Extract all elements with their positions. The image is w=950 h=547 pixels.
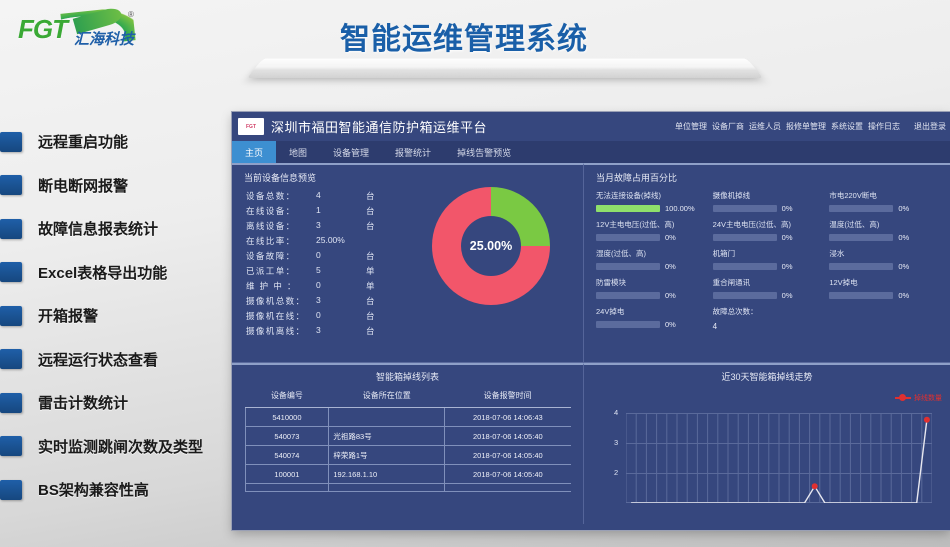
fault-bar-row: 0% <box>829 204 940 213</box>
fault-percent: 0% <box>898 291 909 300</box>
application-screenshot: FGT 深圳市福田智能通信防护箱运维平台 单位管理 设备厂商 运维人员 报修单管… <box>232 112 950 530</box>
stat-unit: 台 <box>366 220 386 232</box>
donut-ring: 25.00% <box>432 187 550 305</box>
nav-item-repair-order-management[interactable]: 报修单管理 <box>786 121 826 132</box>
fault-item-recloser-communication: 重合闸通讯 0% <box>713 277 824 303</box>
fault-item-12v-power-loss: 12V掉电 0% <box>829 277 940 303</box>
fault-item-cabinet-door: 机箱门 0% <box>713 248 824 274</box>
legend-label: 掉线数量 <box>914 393 942 403</box>
fault-total-label: 故障总次数： <box>713 306 824 317</box>
fault-label: 机箱门 <box>713 248 824 259</box>
cell-alarm-time: 2018-07-06 14:06:43 <box>445 408 571 427</box>
fault-panel-title: 当月故障占用百分比 <box>584 165 950 188</box>
fault-progress-bar <box>829 292 893 299</box>
stat-label: 在线设备： <box>246 205 316 217</box>
bullet-square-icon <box>0 262 22 282</box>
fault-bar-row: 0% <box>713 233 824 242</box>
nav-item-operations-staff[interactable]: 运维人员 <box>749 121 781 132</box>
stat-label: 维 护 中 ： <box>246 280 316 292</box>
fault-bar-row: 0% <box>596 291 707 300</box>
y-axis-tick-2: 2 <box>614 468 618 477</box>
fault-label: 24V掉电 <box>596 306 707 317</box>
table-row[interactable]: 5410000 2018-07-06 14:06:43 <box>245 408 571 427</box>
fault-label: 温度(过低、高) <box>829 219 940 230</box>
fault-progress-bar <box>596 263 660 270</box>
y-axis-tick-4: 4 <box>614 408 618 417</box>
fault-bar-row: 0% <box>829 291 940 300</box>
fault-item-lightning-protection-module: 防雷模块 0% <box>596 277 707 303</box>
cell-alarm-time: 2018-07-06 14:05:40 <box>445 465 571 484</box>
list-item: 断电断网报警 <box>0 164 250 208</box>
fault-bar-row: 0% <box>713 204 824 213</box>
fault-label: 湿度(过低、高) <box>596 248 707 259</box>
fault-total-value: 4 <box>713 320 824 331</box>
stat-value: 4 <box>316 190 366 202</box>
offline-list-panel: 智能箱掉线列表 设备编号 设备所在位置 设备报警时间 5410000 <box>232 363 584 530</box>
stat-unit: 台 <box>366 325 386 337</box>
bullet-label: 远程运行状态查看 <box>38 349 158 370</box>
nav-item-system-settings[interactable]: 系统设置 <box>831 121 863 132</box>
table-row[interactable]: 540074 梓荣路1号 2018-07-06 14:05:40 <box>245 446 571 465</box>
monthly-fault-percentage-panel: 当月故障占用百分比 无法连接设备(掉线) 100.00% 摄像机掉线 0 <box>584 163 950 363</box>
app-content: 当前设备信息预览 设备总数： 4 台 在线设备： 1 台 离线设备： 3 台 <box>232 163 950 530</box>
stats-panel-title: 当前设备信息预览 <box>232 165 583 188</box>
table-header-row: 设备编号 设备所在位置 设备报警时间 <box>245 387 571 408</box>
fault-label: 防雷模块 <box>596 277 707 288</box>
stat-label: 在线比率： <box>246 235 316 247</box>
stat-label: 设备总数： <box>246 190 316 202</box>
cell-device-location: 192.168.1.10 <box>329 465 445 484</box>
column-header-alarm-time[interactable]: 设备报警时间 <box>445 387 571 408</box>
device-info-panel: 当前设备信息预览 设备总数： 4 台 在线设备： 1 台 离线设备： 3 台 <box>232 163 584 363</box>
stat-unit: 台 <box>366 310 386 322</box>
fault-progress-bar <box>713 263 777 270</box>
list-item: 远程重启功能 <box>0 120 250 164</box>
nav-item-logout[interactable]: 退出登录 <box>914 121 946 132</box>
fault-percent: 0% <box>898 262 909 271</box>
bullet-square-icon <box>0 436 22 456</box>
fault-progress-bar <box>829 205 893 212</box>
fault-label: 24V主电电压(过低、高) <box>713 219 824 230</box>
stat-label: 摄像机在线： <box>246 310 316 322</box>
fault-bar-row: 0% <box>596 233 707 242</box>
logo-mark-text: FGT <box>18 14 67 45</box>
fault-item-temperature: 温度(过低、高) 0% <box>829 219 940 245</box>
fault-total-count: 故障总次数： 4 <box>713 306 824 332</box>
cell-device-location: 梓荣路1号 <box>329 446 445 465</box>
bottom-panels-row: 智能箱掉线列表 设备编号 设备所在位置 设备报警时间 5410000 <box>232 363 950 530</box>
fault-bar-row: 0% <box>596 262 707 271</box>
cell-device-id: 540073 <box>245 427 329 446</box>
fault-item-mains-220v-outage: 市电220V断电 0% <box>829 190 940 216</box>
fault-item-device-unreachable: 无法连接设备(掉线) 100.00% <box>596 190 707 216</box>
stat-label: 摄像机离线： <box>246 325 316 337</box>
tab-alarm-statistics[interactable]: 报警统计 <box>382 141 444 163</box>
cell-device-location <box>329 408 445 427</box>
fault-bar-row: 0% <box>713 262 824 271</box>
table-row[interactable]: 100001 192.168.1.10 2018-07-06 14:05:40 <box>245 465 571 484</box>
chart-plot-area: 4 3 2 <box>626 413 932 503</box>
fault-progress-bar <box>713 234 777 241</box>
company-logo: FGT ® 汇海科技 <box>12 8 152 50</box>
bullet-label: 故障信息报表统计 <box>38 218 158 239</box>
fault-item-water-immersion: 浸水 0% <box>829 248 940 274</box>
chart-series-svg <box>626 413 932 503</box>
column-header-device-location[interactable]: 设备所在位置 <box>329 387 445 408</box>
app-bottom-edge <box>232 524 950 530</box>
fault-percent: 0% <box>782 233 793 242</box>
stat-unit: 台 <box>366 250 386 262</box>
fault-percent: 0% <box>665 291 676 300</box>
nav-item-device-vendor[interactable]: 设备厂商 <box>712 121 744 132</box>
feature-bullet-list: 远程重启功能 断电断网报警 故障信息报表统计 Excel表格导出功能 开箱报警 … <box>0 120 250 512</box>
app-logo-icon: FGT <box>238 118 264 135</box>
cell-alarm-time <box>445 484 571 492</box>
online-rate-donut-chart: 25.00% <box>432 187 562 317</box>
decorative-shelf <box>246 59 763 78</box>
fault-item-24v-power-loss: 24V掉电 0% <box>596 306 707 332</box>
fault-progress-bar <box>829 263 893 270</box>
list-item: 实时监测跳闸次数及类型 <box>0 425 250 469</box>
list-item: 远程运行状态查看 <box>0 338 250 382</box>
fault-bar-row: 0% <box>829 262 940 271</box>
bullet-square-icon <box>0 132 22 152</box>
cell-alarm-time: 2018-07-06 14:05:40 <box>445 427 571 446</box>
stat-unit: 台 <box>366 295 386 307</box>
stat-value: 3 <box>316 295 366 307</box>
fault-label: 无法连接设备(掉线) <box>596 190 707 201</box>
stat-label: 设备故障： <box>246 250 316 262</box>
stat-unit: 台 <box>366 205 386 217</box>
fault-percent: 100.00% <box>665 204 695 213</box>
app-header-bar: FGT 深圳市福田智能通信防护箱运维平台 单位管理 设备厂商 运维人员 报修单管… <box>232 112 950 141</box>
bullet-label: 远程重启功能 <box>38 131 128 152</box>
bullet-label: 开箱报警 <box>38 305 98 326</box>
legend-dot-icon <box>899 394 906 401</box>
stat-value: 0 <box>316 310 366 322</box>
fault-bar-row: 100.00% <box>596 204 707 213</box>
list-item: Excel表格导出功能 <box>0 251 250 295</box>
stat-row-camera-offline: 摄像机离线： 3 台 <box>232 323 583 338</box>
bullet-square-icon <box>0 306 22 326</box>
stat-value: 0 <box>316 250 366 262</box>
fault-percentage-grid: 无法连接设备(掉线) 100.00% 摄像机掉线 0% <box>584 188 950 332</box>
fault-bar-row: 0% <box>829 233 940 242</box>
legend-marker-icon <box>895 397 911 399</box>
table-row[interactable]: 540073 光祖路83号 2018-07-06 14:05:40 <box>245 427 571 446</box>
fault-percent: 0% <box>782 262 793 271</box>
fault-label: 12V主电电压(过低、高) <box>596 219 707 230</box>
bullet-square-icon <box>0 480 22 500</box>
fault-percent: 0% <box>782 204 793 213</box>
chart-legend[interactable]: 掉线数量 <box>895 393 942 403</box>
fault-grid-spacer <box>829 306 940 332</box>
stat-unit <box>366 235 386 247</box>
fault-item-24v-main-voltage: 24V主电电压(过低、高) 0% <box>713 219 824 245</box>
registered-trademark-icon: ® <box>128 10 134 19</box>
stat-value: 5 <box>316 265 366 277</box>
tab-device-management[interactable]: 设备管理 <box>320 141 382 163</box>
stat-value: 0 <box>316 280 366 292</box>
fault-item-camera-offline: 摄像机掉线 0% <box>713 190 824 216</box>
trend-chart-title: 近30天智能箱掉线走势 <box>584 365 950 387</box>
stat-unit: 台 <box>366 190 386 202</box>
cell-device-location <box>329 484 445 492</box>
trend-chart: 掉线数量 4 3 2 <box>584 387 950 517</box>
bullet-label: 雷击计数统计 <box>38 392 128 413</box>
fault-percent: 0% <box>665 233 676 242</box>
tab-map[interactable]: 地图 <box>276 141 320 163</box>
bullet-square-icon <box>0 175 22 195</box>
list-item: 开箱报警 <box>0 294 250 338</box>
fault-progress-bar <box>829 234 893 241</box>
app-title: 深圳市福田智能通信防护箱运维平台 <box>271 117 487 136</box>
bullet-square-icon <box>0 393 22 413</box>
tab-offline-alarm-preview[interactable]: 掉线告警预览 <box>444 141 524 163</box>
bullet-square-icon <box>0 349 22 369</box>
bullet-label: 断电断网报警 <box>38 175 128 196</box>
list-item: BS架构兼容性高 <box>0 468 250 512</box>
fault-bar-row: 0% <box>596 320 707 329</box>
fault-percent: 0% <box>665 320 676 329</box>
y-axis-tick-3: 3 <box>614 438 618 447</box>
top-panels-row: 当前设备信息预览 设备总数： 4 台 在线设备： 1 台 离线设备： 3 台 <box>232 163 950 363</box>
fault-progress-bar <box>596 321 660 328</box>
logo-chinese-name: 汇海科技 <box>74 28 134 49</box>
fault-bar-row: 0% <box>713 291 824 300</box>
tab-home[interactable]: 主页 <box>232 141 276 163</box>
fault-progress-bar <box>596 205 660 212</box>
offline-trend-panel: 近30天智能箱掉线走势 掉线数量 4 3 <box>584 363 950 530</box>
fault-label: 重合闸通讯 <box>713 277 824 288</box>
cell-alarm-time: 2018-07-06 14:05:40 <box>445 446 571 465</box>
bullet-label: Excel表格导出功能 <box>38 262 167 283</box>
stat-unit: 单 <box>366 280 386 292</box>
fault-label: 浸水 <box>829 248 940 259</box>
stat-value: 25.00% <box>316 235 366 247</box>
fault-progress-bar <box>713 292 777 299</box>
offline-table-title: 智能箱掉线列表 <box>232 365 583 387</box>
fault-progress-bar <box>713 205 777 212</box>
stat-label: 摄像机总数： <box>246 295 316 307</box>
fault-label: 摄像机掉线 <box>713 190 824 201</box>
page-title: 智能运维管理系统 <box>340 14 588 58</box>
top-navigation: 单位管理 设备厂商 运维人员 报修单管理 系统设置 操作日志 退出登录 <box>670 121 950 132</box>
fault-progress-bar <box>596 234 660 241</box>
nav-item-operation-log[interactable]: 操作日志 <box>868 121 900 132</box>
nav-item-unit-management[interactable]: 单位管理 <box>675 121 707 132</box>
stat-label: 离线设备： <box>246 220 316 232</box>
fault-percent: 0% <box>665 262 676 271</box>
column-header-device-id[interactable]: 设备编号 <box>245 387 329 408</box>
list-item: 雷击计数统计 <box>0 381 250 425</box>
stat-label: 已派工单： <box>246 265 316 277</box>
offline-device-table: 设备编号 设备所在位置 设备报警时间 5410000 2018-07-06 14… <box>245 387 571 492</box>
bullet-label: 实时监测跳闸次数及类型 <box>38 436 203 457</box>
stat-value: 3 <box>316 325 366 337</box>
fault-percent: 0% <box>898 233 909 242</box>
fault-progress-bar <box>596 292 660 299</box>
cell-device-id: 5410000 <box>245 408 329 427</box>
cell-device-location: 光祖路83号 <box>329 427 445 446</box>
table-row-partial[interactable] <box>245 484 571 492</box>
fault-label: 市电220V断电 <box>829 190 940 201</box>
bullet-label: BS架构兼容性高 <box>38 479 149 500</box>
tab-bar: 主页 地图 设备管理 报警统计 掉线告警预览 <box>232 141 950 163</box>
list-item: 故障信息报表统计 <box>0 207 250 251</box>
donut-center: 25.00% <box>461 216 521 276</box>
fault-label: 12V掉电 <box>829 277 940 288</box>
stat-unit: 单 <box>366 265 386 277</box>
cell-device-id <box>245 484 329 492</box>
cell-device-id: 100001 <box>245 465 329 484</box>
cell-device-id: 540074 <box>245 446 329 465</box>
fault-percent: 0% <box>898 204 909 213</box>
stat-value: 1 <box>316 205 366 217</box>
stat-value: 3 <box>316 220 366 232</box>
bullet-square-icon <box>0 219 22 239</box>
donut-value-label: 25.00% <box>470 239 512 253</box>
fault-item-12v-main-voltage: 12V主电电压(过低、高) 0% <box>596 219 707 245</box>
fault-percent: 0% <box>782 291 793 300</box>
fault-item-humidity: 湿度(过低、高) 0% <box>596 248 707 274</box>
